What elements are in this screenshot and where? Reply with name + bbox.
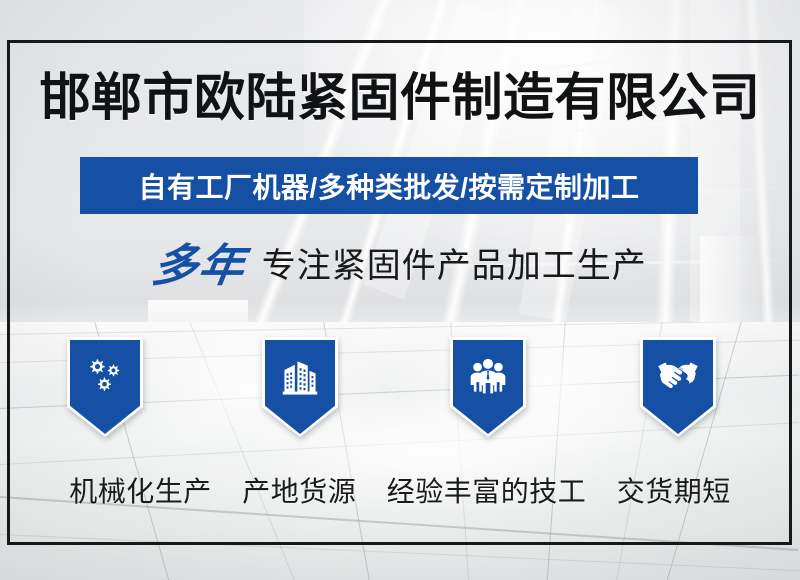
feature-badge-fast-delivery (643, 340, 713, 434)
feature-badge-skilled-workers (453, 340, 523, 434)
team-people-icon (453, 356, 523, 394)
feature-label-2: 产地货源 (242, 470, 356, 510)
promo-banner-image: 邯郸市欧陆紧固件制造有限公司 自有工厂机器/多种类批发/按需定制加工 多年 专注… (0, 0, 800, 580)
feature-label-4: 交货期短 (617, 470, 731, 510)
gears-icon (70, 356, 140, 396)
highlight-banner-text: 自有工厂机器/多种类批发/按需定制加工 (138, 166, 639, 206)
tagline-rest: 专注紧固件产品加工生产 (262, 249, 647, 283)
feature-badge-mechanized-production (70, 340, 140, 434)
tagline-emphasis: 多年 (150, 243, 249, 288)
tagline: 多年 专注紧固件产品加工生产 (0, 243, 800, 288)
feature-badge-row (0, 340, 800, 440)
page-title: 邯郸市欧陆紧固件制造有限公司 (0, 72, 800, 123)
feature-label-row: 机械化生产 产地货源 经验丰富的技工 交货期短 (0, 470, 800, 510)
feature-label-3: 经验丰富的技工 (387, 470, 587, 510)
feature-badge-source-factory (265, 340, 335, 434)
highlight-banner: 自有工厂机器/多种类批发/按需定制加工 (80, 157, 698, 214)
handshake-icon (643, 356, 713, 390)
buildings-icon (265, 356, 335, 396)
feature-label-1: 机械化生产 (69, 470, 212, 510)
